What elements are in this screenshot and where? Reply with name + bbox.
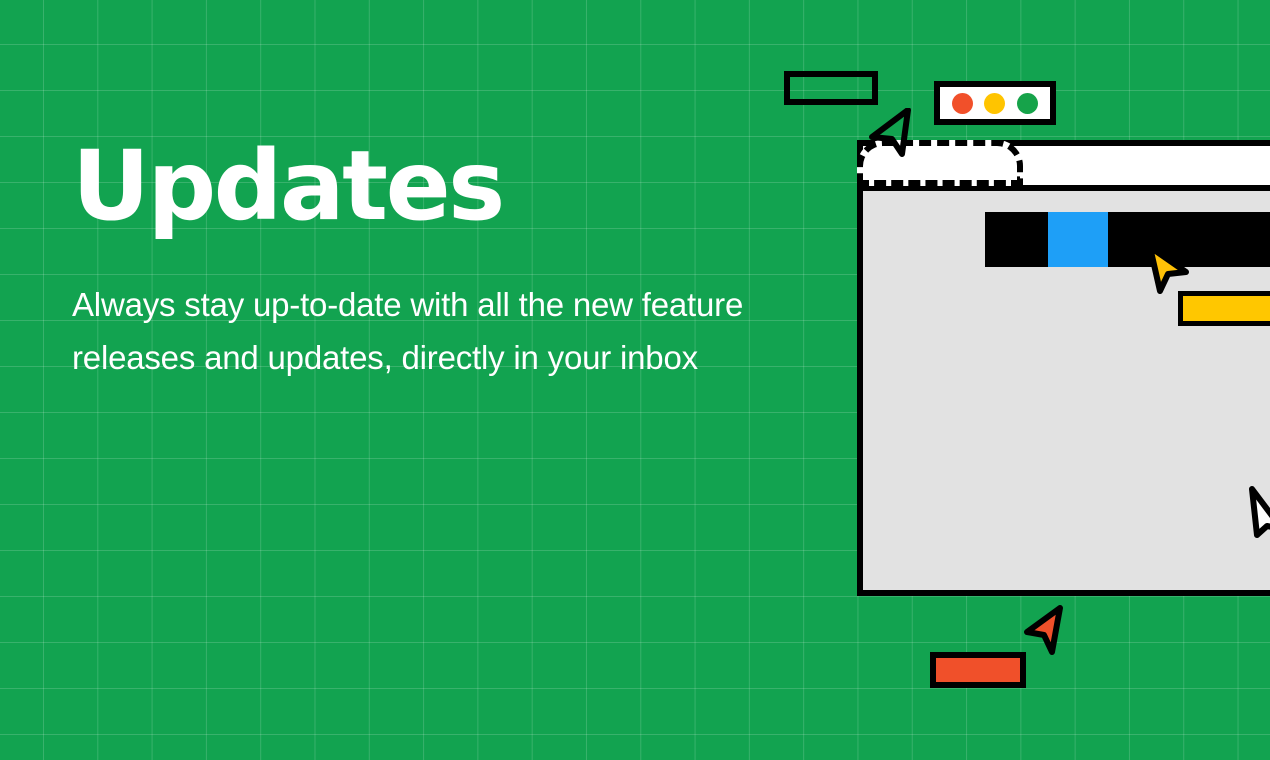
hero-copy-block: Updates Always stay up-to-date with all … bbox=[72, 138, 752, 384]
bar-segment-left bbox=[985, 212, 1048, 267]
close-dot[interactable] bbox=[952, 93, 973, 114]
updates-hero-banner: Updates Always stay up-to-date with all … bbox=[0, 0, 1270, 760]
page-title: Updates bbox=[72, 138, 752, 234]
cursor-arrow-red-icon bbox=[1022, 604, 1066, 658]
cursor-arrow-yellow-icon bbox=[1146, 245, 1190, 295]
minimize-dot[interactable] bbox=[984, 93, 1005, 114]
empty-outline-rectangle bbox=[784, 71, 878, 105]
progress-bar bbox=[985, 212, 1270, 267]
cursor-arrow-white-icon bbox=[1246, 485, 1270, 539]
window-controls-chip bbox=[934, 81, 1056, 125]
maximize-dot[interactable] bbox=[1017, 93, 1038, 114]
yellow-rectangle bbox=[1178, 291, 1270, 326]
bar-segment-active bbox=[1048, 212, 1108, 267]
cursor-sparkle-icon bbox=[868, 108, 914, 166]
hero-subcopy: Always stay up-to-date with all the new … bbox=[72, 234, 752, 384]
browser-window bbox=[857, 140, 1270, 596]
red-rectangle bbox=[930, 652, 1026, 688]
